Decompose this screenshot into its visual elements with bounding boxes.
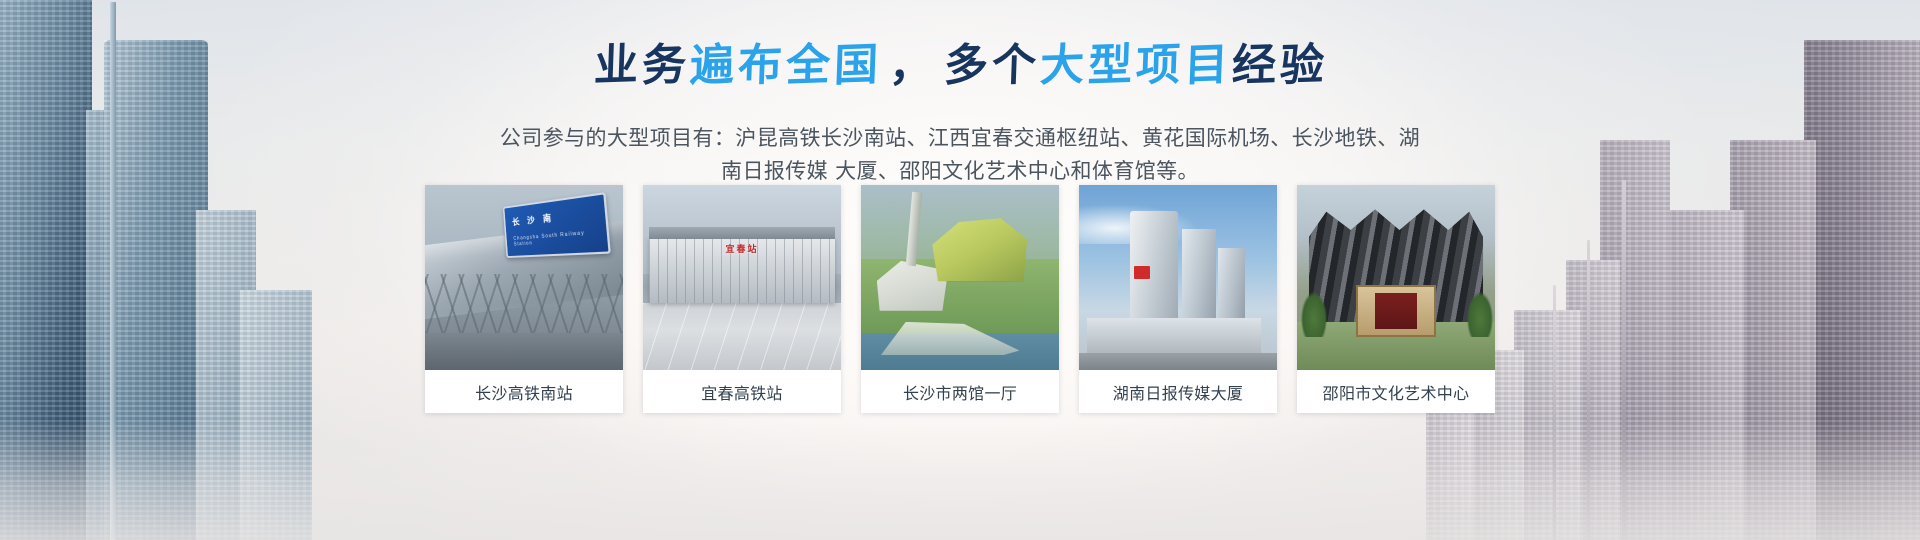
station-sign-en: Changsha South Railway Station — [514, 228, 608, 247]
card-caption: 长沙高铁南站 — [425, 370, 623, 413]
changsha-south-railway-station-photo: 长 沙 南 Changsha South Railway Station — [425, 185, 623, 370]
title-char-0: 业 — [592, 37, 642, 95]
facade-sign-text: 宜春站 — [725, 242, 758, 255]
subtitle-line-2: 大厦、邵阳文化艺术中心和体育馆等。 — [835, 159, 1199, 183]
card-caption: 湖南日报传媒大厦 — [1079, 370, 1277, 413]
title-char-1: 务 — [640, 37, 690, 95]
title-char-11: 项 — [1134, 37, 1184, 95]
project-card[interactable]: 长 沙 南 Changsha South Railway Station 长沙高… — [425, 185, 623, 413]
card-caption: 长沙市两馆一厅 — [861, 370, 1059, 413]
title-char-5: 国 — [832, 37, 882, 95]
entrance — [1356, 285, 1435, 337]
title-char-10: 型 — [1086, 37, 1136, 95]
station-sign-cn: 长 沙 南 — [512, 211, 555, 228]
project-card[interactable]: 宜春站 宜春高铁站 — [643, 185, 841, 413]
station-sign: 长 沙 南 Changsha South Railway Station — [503, 192, 611, 257]
title-char-9: 大 — [1038, 37, 1088, 95]
project-card[interactable]: 长沙市两馆一厅 — [861, 185, 1059, 413]
title-char-6: ， — [880, 37, 944, 95]
project-card-list: 长 沙 南 Changsha South Railway Station 长沙高… — [425, 185, 1495, 413]
title-char-4: 全 — [784, 37, 834, 95]
shaoyang-culture-art-centre-photo — [1297, 185, 1495, 370]
building-logo — [1134, 266, 1150, 279]
project-card[interactable]: 湖南日报传媒大厦 — [1079, 185, 1277, 413]
hunan-daily-media-tower-photo — [1079, 185, 1277, 370]
banner-content: 业务遍布全国，多个大型项目经验 公司参与的大型项目有：沪昆高铁长沙南站、江西宜春… — [0, 0, 1920, 540]
title-char-13: 经 — [1230, 37, 1280, 95]
promo-banner: 业务遍布全国，多个大型项目经验 公司参与的大型项目有：沪昆高铁长沙南站、江西宜春… — [0, 0, 1920, 540]
page-title: 业务遍布全国，多个大型项目经验 — [0, 38, 1920, 94]
title-char-2: 遍 — [688, 37, 738, 95]
title-char-3: 布 — [736, 37, 786, 95]
changsha-two-halls-one-theatre-photo — [861, 185, 1059, 370]
title-char-12: 目 — [1182, 37, 1232, 95]
banner-subtitle: 公司参与的大型项目有：沪昆高铁长沙南站、江西宜春交通枢纽站、黄花国际机场、长沙地… — [495, 122, 1425, 188]
title-char-7: 多 — [942, 37, 992, 95]
title-char-8: 个 — [990, 37, 1040, 95]
card-caption: 邵阳市文化艺术中心 — [1297, 370, 1495, 413]
title-char-14: 验 — [1278, 37, 1328, 95]
card-caption: 宜春高铁站 — [643, 370, 841, 413]
project-card[interactable]: 邵阳市文化艺术中心 — [1297, 185, 1495, 413]
yichun-high-speed-rail-station-photo: 宜春站 — [643, 185, 841, 370]
